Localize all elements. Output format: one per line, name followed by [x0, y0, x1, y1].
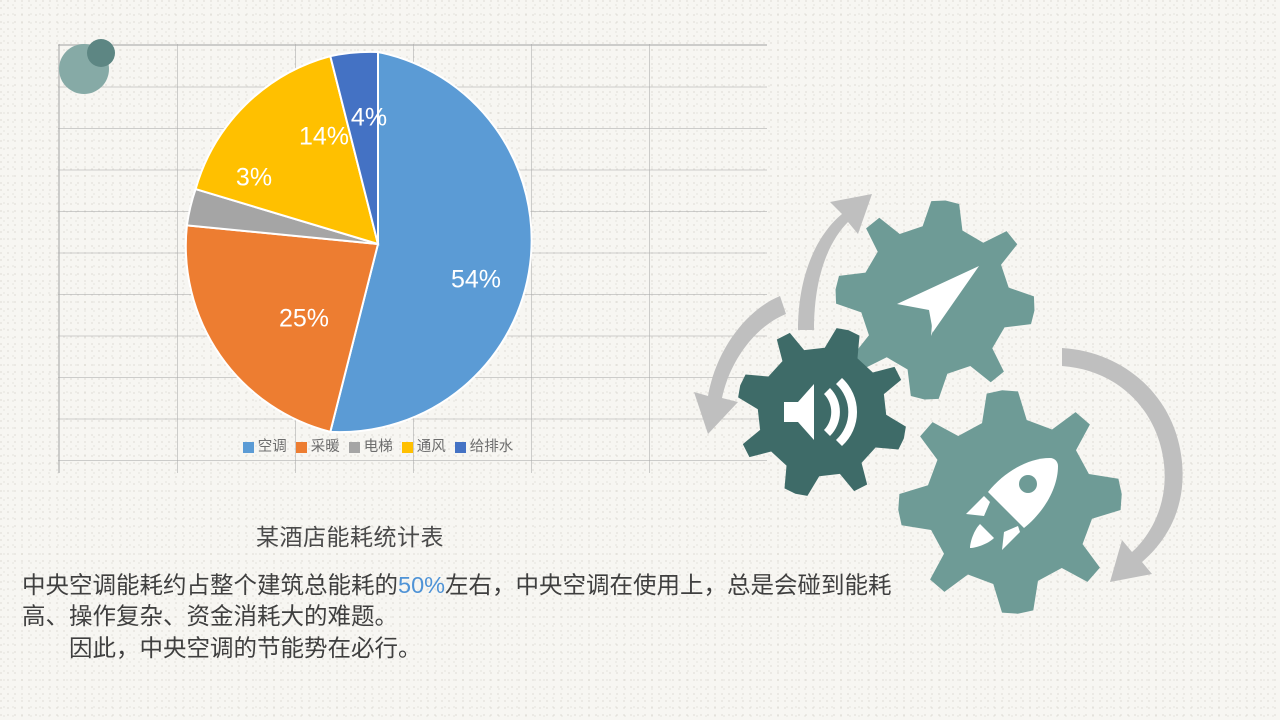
legend-item-采暖[interactable]: 采暖 [296, 440, 340, 455]
pie-label-电梯: 3% [236, 164, 272, 192]
body-p1-part1: 中央空调能耗约占整个建筑总能耗的 [22, 572, 398, 598]
legend-item-空调[interactable]: 空调 [243, 440, 287, 455]
legend-item-通风[interactable]: 通风 [402, 440, 446, 455]
legend-swatch-电梯 [349, 442, 360, 453]
legend-label-给排水: 给排水 [470, 440, 514, 455]
legend-label-采暖: 采暖 [311, 440, 340, 455]
gear-rocket[interactable] [890, 382, 1129, 621]
pie-label-采暖: 25% [279, 305, 329, 333]
logo-circle-small [87, 39, 115, 67]
pie-chart[interactable]: 54% 25% 3% 14% 4% [182, 48, 574, 440]
legend-swatch-给排水 [455, 442, 466, 453]
gears-svg [690, 170, 1280, 670]
pie-label-通风: 14% [299, 123, 349, 151]
chart-title: 某酒店能耗统计表 [0, 518, 700, 552]
body-p1-accent: 50% [398, 572, 445, 598]
teal-circles-logo [58, 38, 116, 96]
legend-label-空调: 空调 [258, 440, 287, 455]
pie-label-空调: 54% [451, 266, 501, 294]
legend-swatch-空调 [243, 442, 254, 453]
legend-label-电梯: 电梯 [364, 440, 393, 455]
legend-swatch-通风 [402, 442, 413, 453]
legend-item-电梯[interactable]: 电梯 [349, 440, 393, 455]
pie-label-给排水: 4% [351, 104, 387, 132]
pie-chart-legend: 空调 采暖 电梯 通风 给排水 [182, 440, 574, 455]
legend-label-通风: 通风 [417, 440, 446, 455]
gears-illustration [690, 170, 1280, 670]
legend-swatch-采暖 [296, 442, 307, 453]
pie-chart-svg: 54% 25% 3% 14% 4% [182, 48, 574, 440]
legend-item-给排水[interactable]: 给排水 [455, 440, 514, 455]
slide-canvas: 54% 25% 3% 14% 4% 空调 采暖 电梯 通风 给排水 [0, 0, 1280, 720]
